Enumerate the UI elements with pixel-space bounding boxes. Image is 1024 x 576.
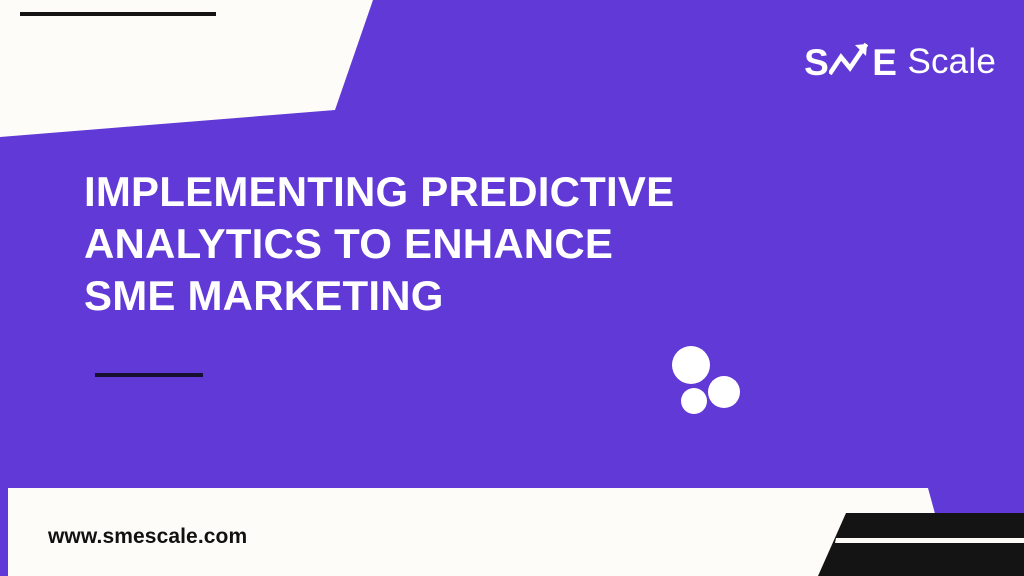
decor-circle-large [672, 346, 710, 384]
decor-circle-small [681, 388, 707, 414]
headline-dark-rule [95, 373, 203, 377]
logo-mark: S E [804, 41, 896, 81]
logo-word: Scale [907, 44, 996, 79]
logo-letter-e: E [872, 44, 896, 81]
decor-circle-medium [708, 376, 740, 408]
logo[interactable]: S E Scale [804, 38, 996, 84]
title-line-2: ANALYTICS TO ENHANCE [84, 218, 744, 270]
top-black-rule [20, 12, 216, 16]
bottom-black-band [818, 513, 1024, 576]
title-line-1: IMPLEMENTING PREDICTIVE [84, 166, 744, 218]
title-line-3: SME MARKETING [84, 270, 744, 322]
page-title: IMPLEMENTING PREDICTIVE ANALYTICS TO ENH… [84, 166, 744, 322]
logo-letter-s: S [804, 44, 828, 81]
bottom-white-stripe [835, 538, 1024, 543]
slide-canvas: S E Scale IMPLEMENTING PREDICTIVE ANALYT… [0, 0, 1024, 576]
trend-arrow-m-icon [829, 41, 871, 75]
website-url[interactable]: www.smescale.com [48, 524, 247, 550]
